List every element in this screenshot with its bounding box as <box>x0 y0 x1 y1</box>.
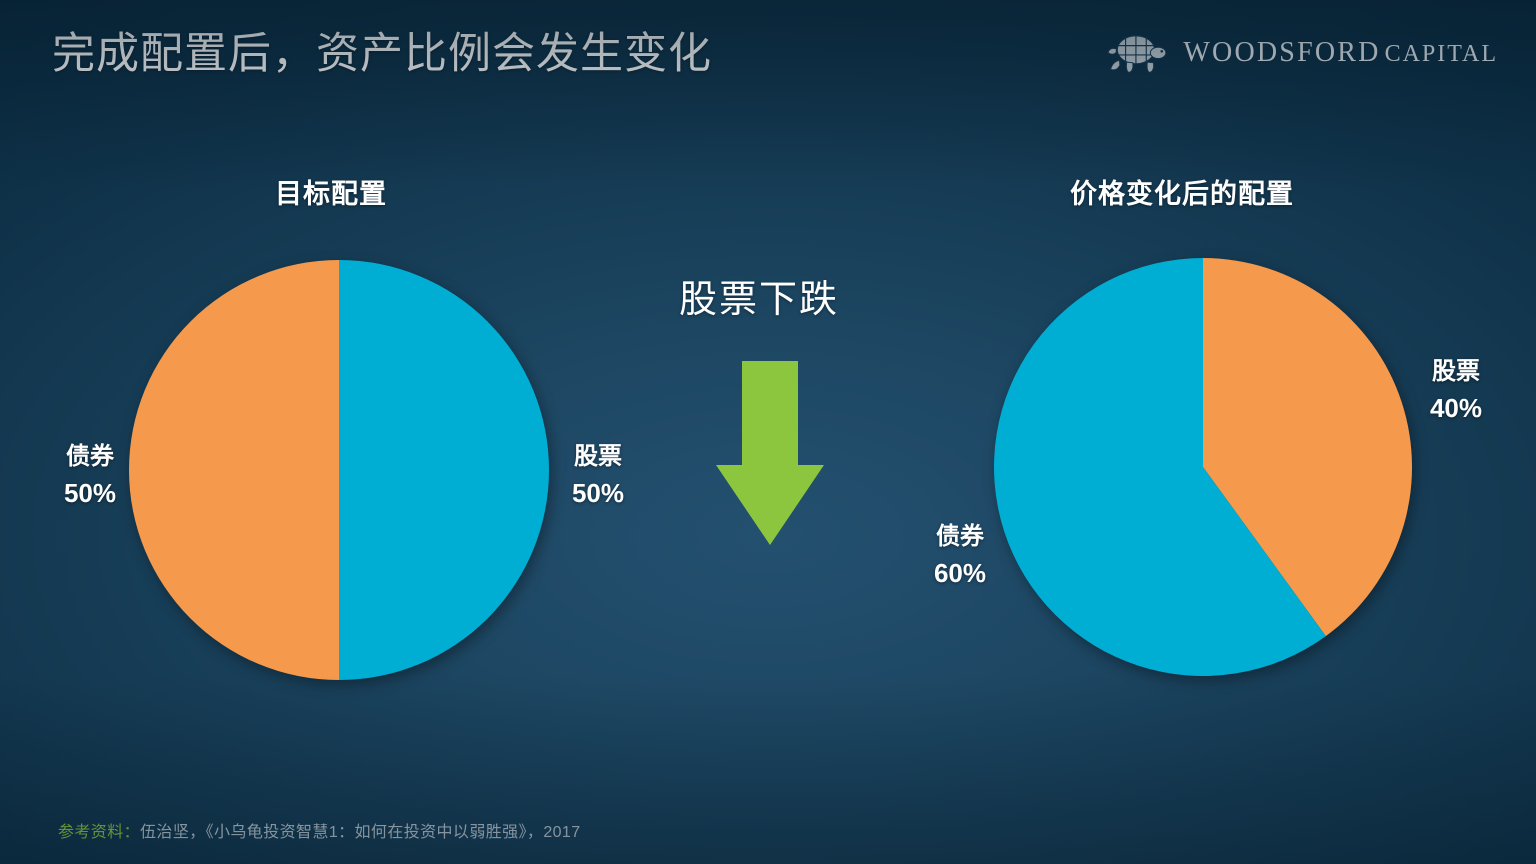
logo-line-2: CAPITAL <box>1385 41 1498 67</box>
pie-label-name: 债券 <box>915 520 1005 555</box>
arrow-down-icon <box>716 361 824 545</box>
pie-label-percent: 50% <box>553 475 643 513</box>
pie-label-percent: 50% <box>45 475 135 513</box>
footnote: 参考资料：伍治坚，《小乌龟投资智慧1：如何在投资中以弱胜强》，2017 <box>58 818 581 842</box>
slide-canvas: 完成配置后，资产比例会发生变化 WOODSFORD CAPITAL 目标配置 <box>0 0 1536 864</box>
pie-chart-after-change-allocation <box>994 258 1412 676</box>
brand-logo: WOODSFORD CAPITAL <box>1107 26 1498 80</box>
pie-label-percent: 60% <box>915 555 1005 593</box>
logo-line-1: WOODSFORD <box>1183 37 1380 68</box>
pie-label-right-stocks: 股票 40% <box>1411 355 1501 427</box>
pie-label-left-bonds: 债券 50% <box>45 440 135 512</box>
page-title: 完成配置后，资产比例会发生变化 <box>52 28 712 82</box>
chart-title-after-change-allocation: 价格变化后的配置 <box>1070 172 1294 211</box>
pie-slice-bonds <box>339 260 549 680</box>
chart-title-target-allocation: 目标配置 <box>275 172 387 211</box>
pie-chart-target-allocation <box>129 260 549 680</box>
pie-label-name: 股票 <box>1411 355 1501 390</box>
pie-label-name: 股票 <box>553 440 643 475</box>
footnote-label: 参考资料： <box>58 824 140 841</box>
pie-label-name: 债券 <box>45 440 135 475</box>
turtle-icon <box>1107 26 1169 80</box>
logo-wordmark: WOODSFORD CAPITAL <box>1183 39 1498 68</box>
pie-label-left-stocks: 股票 50% <box>553 440 643 512</box>
footnote-body: 伍治坚，《小乌龟投资智慧1：如何在投资中以弱胜强》，2017 <box>140 824 581 841</box>
pie-label-percent: 40% <box>1411 390 1501 428</box>
transition-caption: 股票下跌 <box>679 268 839 323</box>
pie-label-right-bonds: 债券 60% <box>915 520 1005 592</box>
pie-slice-stocks <box>129 260 339 680</box>
